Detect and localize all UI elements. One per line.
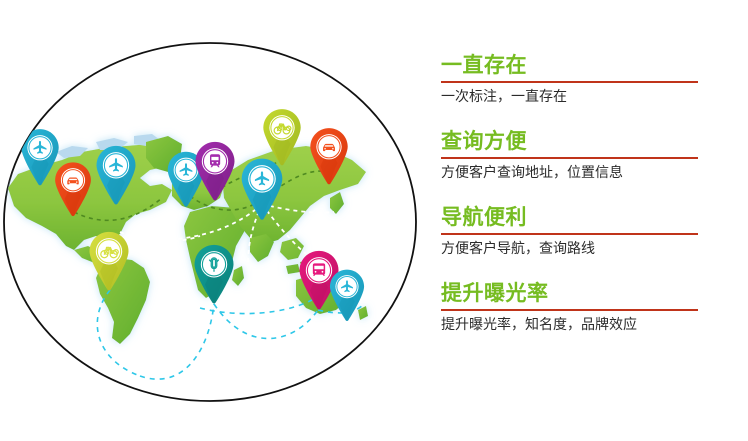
feature-description-always-exists: 一次标注，一直存在: [441, 86, 716, 108]
tram-icon: [210, 154, 220, 167]
feature-block-convenient-navigation: 导航便利方便客户导航，查询路线: [441, 204, 716, 260]
feature-title-increase-exposure: 提升曝光率: [441, 280, 716, 307]
promo-banner: 一直存在一次标注，一直存在查询方便方便客户查询地址，位置信息导航便利方便客户导航…: [0, 0, 748, 441]
pin-icon-disc: [201, 251, 227, 277]
feature-description-increase-exposure: 提升曝光率，知名度，品牌效应: [441, 314, 716, 336]
feature-block-always-exists: 一直存在一次标注，一直存在: [441, 52, 716, 108]
feature-underline-increase-exposure: [441, 309, 698, 311]
feature-title-always-exists: 一直存在: [441, 52, 716, 79]
feature-description-easy-lookup: 方便客户查询地址，位置信息: [441, 162, 716, 184]
feature-title-easy-lookup: 查询方便: [441, 128, 716, 155]
feature-underline-easy-lookup: [441, 157, 698, 159]
feature-underline-convenient-navigation: [441, 233, 698, 235]
feature-block-easy-lookup: 查询方便方便客户查询地址，位置信息: [441, 128, 716, 184]
world-map-graphic: [0, 0, 420, 441]
feature-title-convenient-navigation: 导航便利: [441, 204, 716, 231]
feature-description-convenient-navigation: 方便客户导航，查询路线: [441, 238, 716, 260]
map-illustration-panel: [0, 0, 420, 441]
bus-icon: [313, 263, 325, 275]
feature-block-increase-exposure: 提升曝光率提升曝光率，知名度，品牌效应: [441, 280, 716, 336]
feature-underline-always-exists: [441, 81, 698, 83]
feature-list: 一直存在一次标注，一直存在查询方便方便客户查询地址，位置信息导航便利方便客户导航…: [441, 52, 716, 336]
